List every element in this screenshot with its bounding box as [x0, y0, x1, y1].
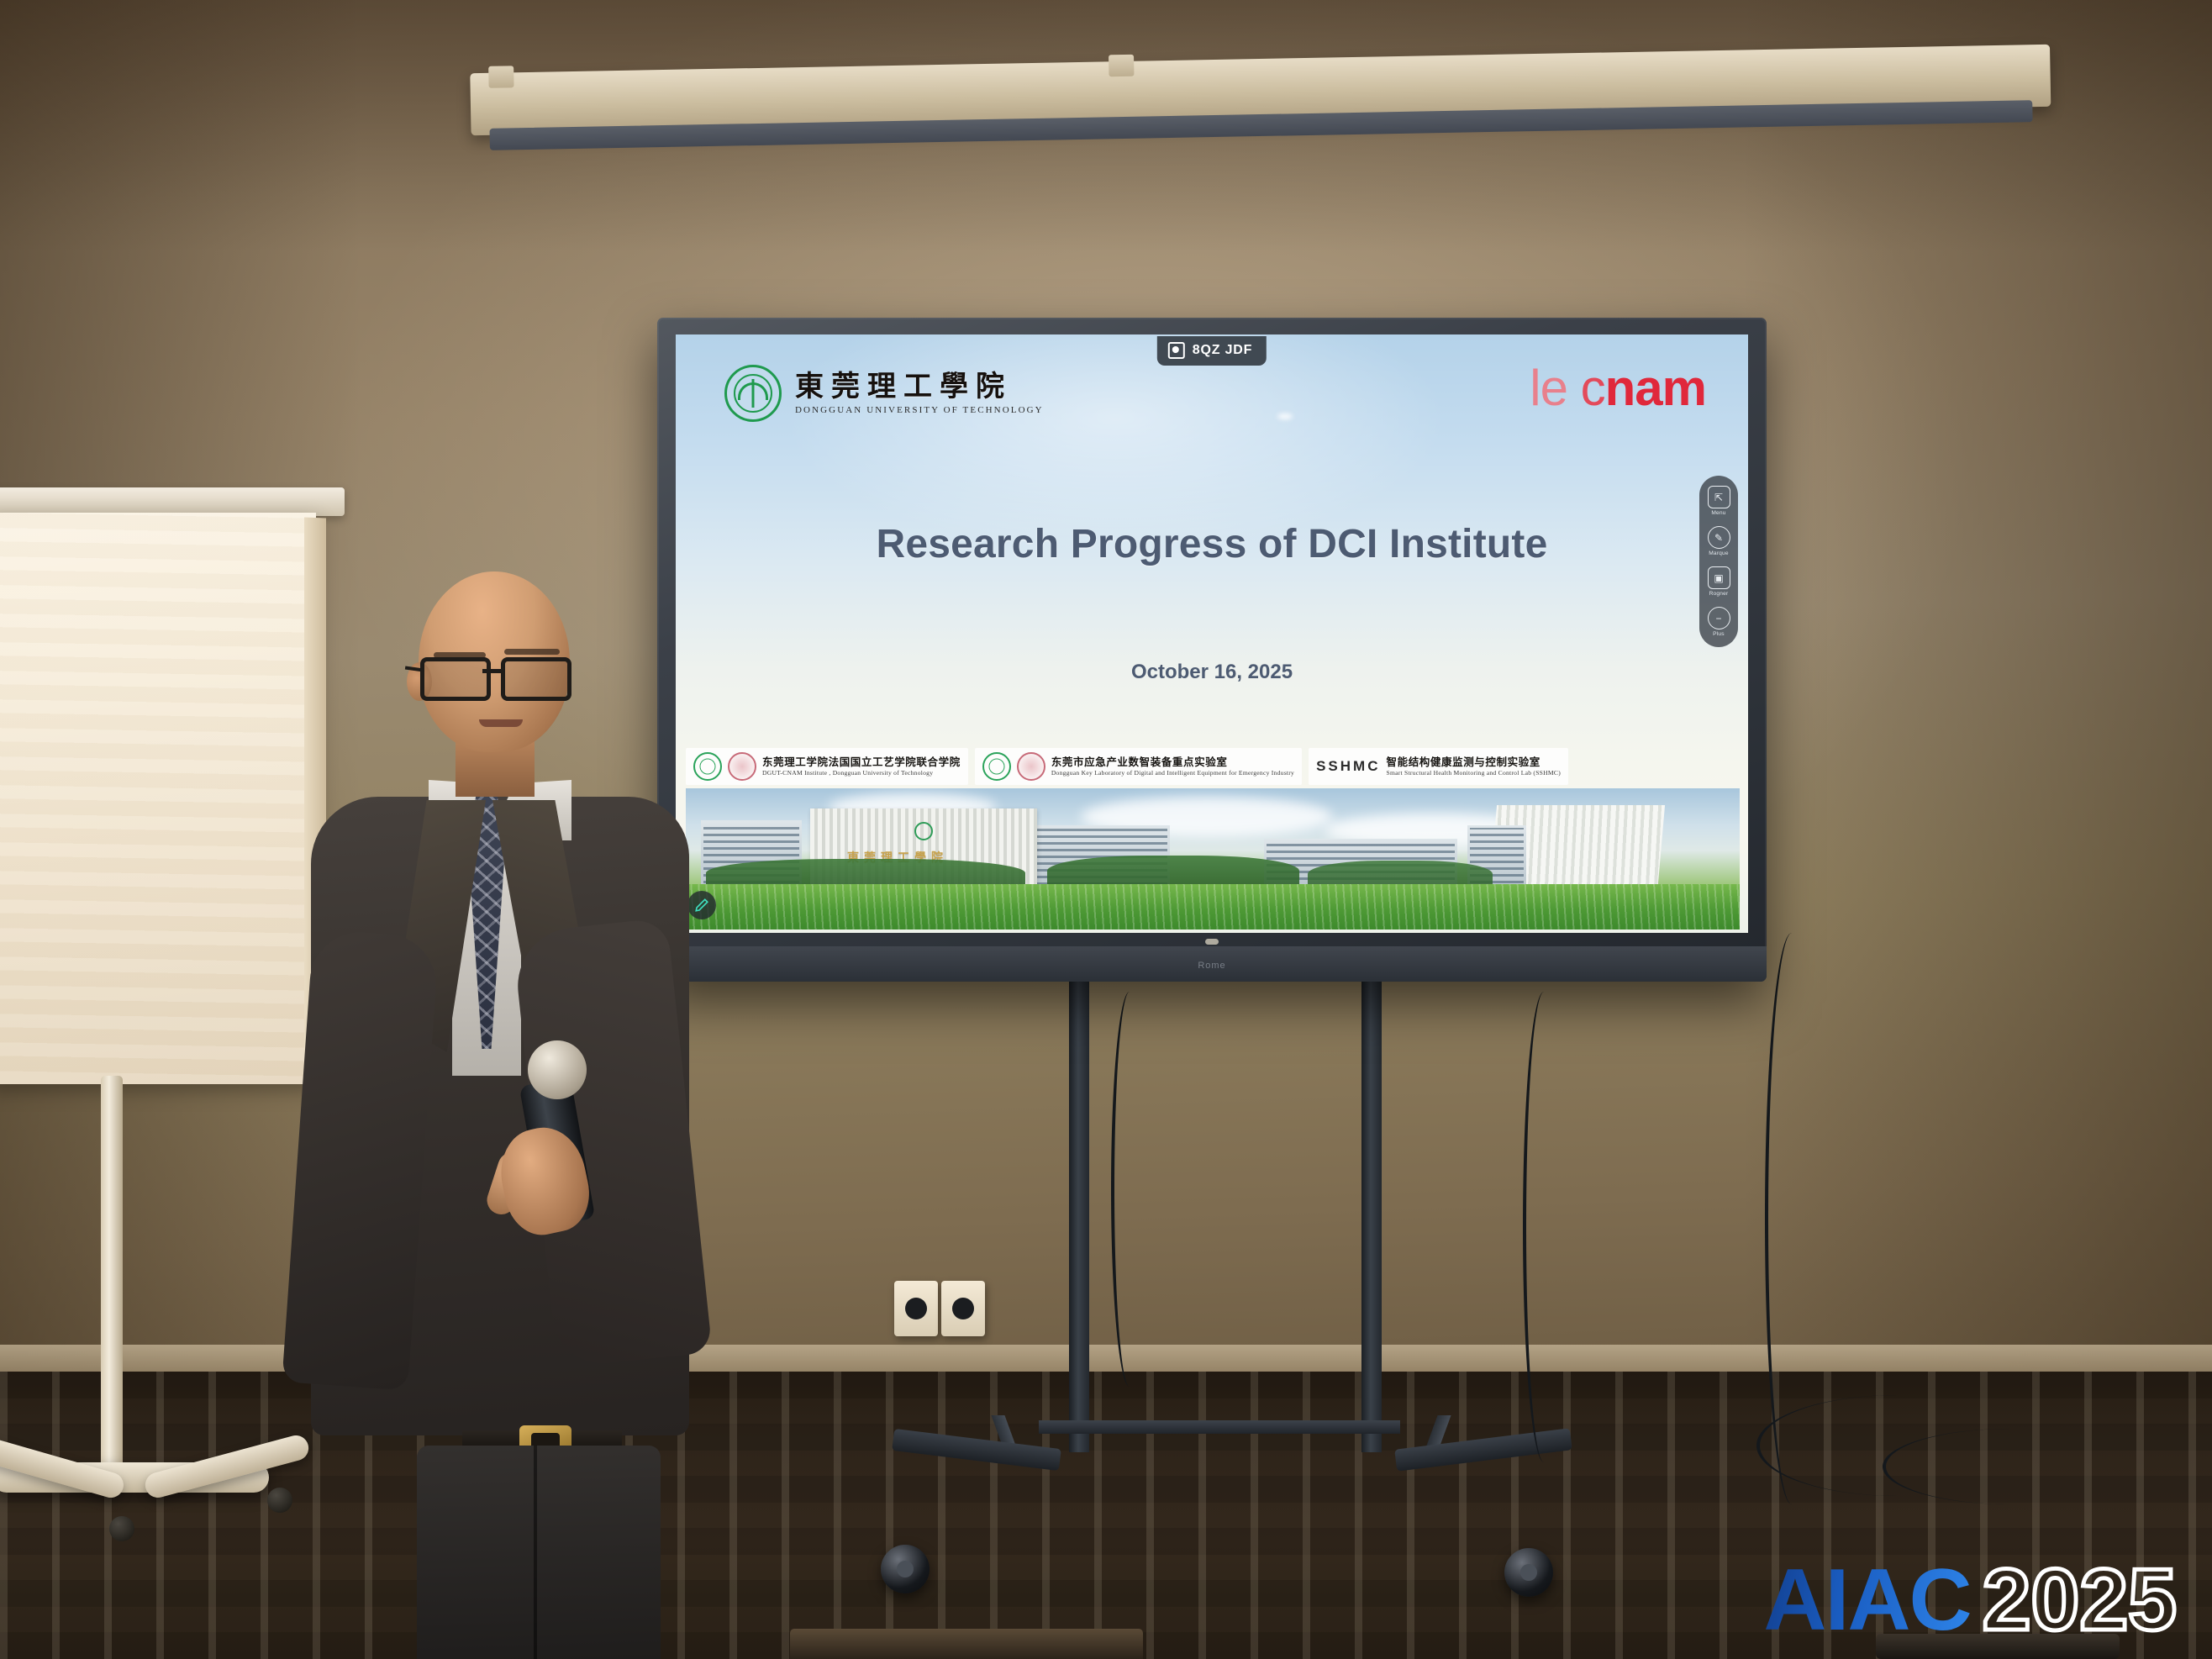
slide-date: October 16, 2025	[676, 661, 1748, 684]
cnam-logo: le cnam	[1530, 363, 1706, 413]
slide-title: Research Progress of DCI Institute	[676, 521, 1748, 567]
toolbar-item-marker[interactable]: ✎ Marque	[1701, 523, 1736, 560]
toolbar-label: Menu	[1711, 510, 1725, 516]
partner-name-cn: 智能结构健康监测与控制实验室	[1387, 756, 1562, 768]
glasses-bridge	[482, 669, 501, 673]
campus-lawn	[686, 884, 1740, 930]
display-toolbar[interactable]: ⇱ Menu ✎ Marque ▣ Rogner − Plus	[1699, 476, 1738, 647]
cable-coil-floor-2	[1883, 1429, 2138, 1504]
toolbar-label: Plus	[1713, 631, 1725, 637]
crop-image-icon: ▣	[1708, 566, 1730, 589]
toolbar-item-crop[interactable]: ▣ Rogner	[1701, 563, 1736, 600]
cnam-seal-icon	[728, 752, 756, 781]
screen-id-badge: 8QZ JDF	[1157, 336, 1267, 366]
display-indicator-light	[1205, 939, 1219, 945]
presenter-mouth	[479, 719, 523, 727]
light-reflection-2	[1277, 413, 1293, 419]
glasses-lens-left	[420, 657, 491, 701]
presenter-glasses	[420, 657, 573, 696]
marker-pen-icon: ✎	[1708, 526, 1730, 549]
wall-socket-right	[941, 1281, 985, 1336]
screen-share-icon	[1168, 342, 1185, 359]
stand-crossbar	[1039, 1420, 1400, 1434]
wall-socket-left	[894, 1281, 938, 1336]
stand-column-right	[1361, 982, 1382, 1452]
housing-bracket-right	[1109, 55, 1134, 77]
display-brand-label: Rome	[1198, 961, 1225, 971]
more-circle-icon: −	[1708, 607, 1730, 629]
display-bottom-bezel: Rome	[657, 946, 1767, 982]
toolbar-label: Marque	[1709, 550, 1729, 556]
flipchart-easel	[0, 487, 345, 1093]
presenter-brow-right	[504, 649, 560, 655]
interactive-display[interactable]: 東莞理工學院 DONGGUAN UNIVERSITY OF TECHNOLOGY…	[657, 318, 1767, 982]
cnam-c: c	[1581, 360, 1605, 416]
toolbar-label: Rogner	[1709, 591, 1729, 597]
partner-name-en: Dongguan Key Laboratory of Digital and I…	[1051, 770, 1294, 777]
cnam-le: le	[1530, 360, 1567, 416]
partner-name-en: Smart Structural Health Monitoring and C…	[1387, 770, 1562, 777]
watermark-year: 2025	[1983, 1556, 2177, 1644]
toolbar-item-more[interactable]: − Plus	[1701, 603, 1736, 640]
presentation-slide: 東莞理工學院 DONGGUAN UNIVERSITY OF TECHNOLOGY…	[676, 334, 1748, 933]
microphone-head	[528, 1040, 587, 1099]
toolbar-item-menu[interactable]: ⇱ Menu	[1701, 482, 1736, 519]
campus-photo: 東莞理工學院	[686, 788, 1740, 930]
stand-column-left	[1069, 982, 1089, 1452]
foreground-table	[790, 1629, 1143, 1659]
flipchart-tray	[0, 487, 345, 516]
cable-left	[1111, 992, 1148, 1387]
share-screen-icon: ⇱	[1708, 486, 1730, 508]
presenter-trousers	[417, 1446, 661, 1659]
university-name-cn: 東莞理工學院	[795, 372, 1044, 401]
flipchart-pole	[101, 1076, 123, 1471]
dgut-seal-icon	[982, 752, 1011, 781]
partner-logo-strip: 东莞理工学院法国国立工艺学院联合学院 DGUT-CNAM Institute ,…	[686, 745, 1740, 788]
partner-logo-sshmc: SSHMC 智能结构健康监测与控制实验室 Smart Structural He…	[1309, 748, 1568, 785]
glasses-lens-right	[501, 657, 571, 701]
partner-name-cn: 东莞市应急产业数智装备重点实验室	[1051, 756, 1294, 768]
housing-bracket-left	[488, 66, 513, 88]
cable-right	[1523, 992, 1565, 1462]
flipchart-caster-right	[267, 1488, 292, 1513]
dgut-seal-icon	[693, 752, 722, 781]
university-logo: 東莞理工學院 DONGGUAN UNIVERSITY OF TECHNOLOGY	[724, 365, 1044, 422]
sshmc-abbr: SSHMC	[1316, 758, 1380, 775]
university-name-en: DONGGUAN UNIVERSITY OF TECHNOLOGY	[795, 405, 1044, 415]
flipchart-paper	[0, 513, 316, 1084]
partner-name-en: DGUT-CNAM Institute , Dongguan Universit…	[762, 770, 961, 777]
partner-name-cn: 东莞理工学院法国国立工艺学院联合学院	[762, 756, 961, 768]
cnam-seal-icon	[1017, 752, 1045, 781]
cnam-nam: nam	[1605, 360, 1706, 416]
event-watermark: AIAC 2025	[1763, 1556, 2177, 1644]
stand-caster-front-right	[1504, 1548, 1553, 1597]
screen-id-code: 8QZ JDF	[1193, 343, 1252, 358]
partner-logo-keylab: 东莞市应急产业数智装备重点实验室 Dongguan Key Laboratory…	[975, 748, 1302, 785]
stand-caster-front-left	[881, 1545, 930, 1593]
watermark-brand: AIAC	[1763, 1556, 1970, 1644]
partner-logo-institute: 东莞理工学院法国国立工艺学院联合学院 DGUT-CNAM Institute ,…	[686, 748, 968, 785]
dgut-seal-icon	[724, 365, 782, 422]
photo-scene: 東莞理工學院 DONGGUAN UNIVERSITY OF TECHNOLOGY…	[0, 0, 2212, 1659]
gate-seal-icon	[914, 822, 933, 840]
presenter	[303, 571, 698, 1659]
flipchart-caster-mid	[109, 1516, 134, 1541]
display-screen[interactable]: 東莞理工學院 DONGGUAN UNIVERSITY OF TECHNOLOGY…	[676, 334, 1748, 933]
